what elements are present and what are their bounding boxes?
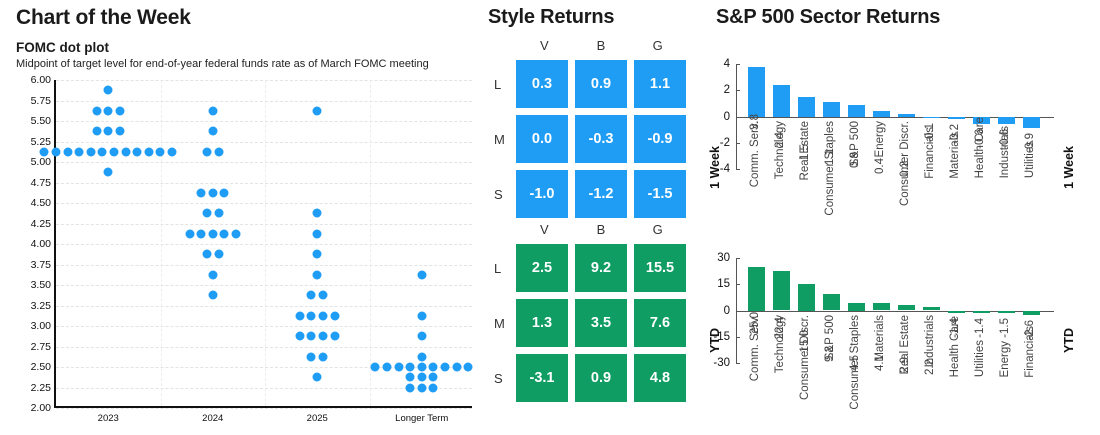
bar-category-label: Technology (775, 121, 787, 179)
dot-plot-gridline (56, 203, 472, 204)
dot-plot-y-tick: 3.75 (31, 259, 51, 271)
dot-plot-dot (313, 373, 322, 382)
bar-chart-y-tickmark (736, 90, 740, 91)
heatmap-row-header: M (490, 132, 516, 147)
heatmap-row: M0.0-0.3-0.9 (490, 115, 686, 163)
dot-plot-dot (231, 229, 240, 238)
dot-plot-y-tick: 4.25 (31, 218, 51, 230)
bar-category-label: Energy (1000, 341, 1012, 377)
bar-value-label: -1.5 (1000, 318, 1012, 338)
heatmap-row: S-1.0-1.2-1.5 (490, 170, 686, 218)
dot-plot-x-tick: 2024 (202, 413, 223, 424)
bar-category-label: Technology (775, 315, 787, 373)
fomc-dot-plot-panel: Chart of the Week FOMC dot plot Midpoint… (0, 0, 480, 435)
bar-chart-bar[interactable] (923, 117, 941, 118)
dot-plot-y-tick: 2.75 (31, 341, 51, 353)
bar-value-label: 0.4 (875, 158, 887, 174)
heatmap-row-header: M (490, 316, 516, 331)
dot-plot-dot (307, 291, 316, 300)
bar-chart-bar[interactable] (973, 311, 991, 313)
bar-chart-bar[interactable] (923, 307, 941, 311)
heatmap-cell[interactable]: 9.2 (575, 244, 627, 292)
heatmap-row: M1.33.57.6 (490, 299, 686, 347)
heatmap-column-header: B (573, 222, 630, 244)
dot-plot-dot (104, 168, 113, 177)
dot-plot-gridline (56, 265, 472, 266)
bar-chart-bar[interactable] (948, 311, 966, 313)
style-returns-heatmap-1week: VBGL0.30.91.1M0.0-0.3-0.9S-1.0-1.2-1.5 (490, 38, 686, 225)
dot-plot-column-divider (370, 80, 371, 406)
heatmap-column-header: B (573, 38, 630, 60)
dot-plot-dot (98, 147, 107, 156)
bar-chart-y-tick-label: 0 (704, 111, 730, 123)
dot-plot-dot (115, 127, 124, 136)
dot-plot-y-tick: 3.25 (31, 300, 51, 312)
heatmap-cell[interactable]: -3.1 (516, 354, 568, 402)
dot-plot-gridline (56, 326, 472, 327)
heatmap-row: L2.59.215.5 (490, 244, 686, 292)
bar-chart-bar[interactable] (873, 111, 891, 116)
dot-plot-dot (92, 127, 101, 136)
dot-plot-dot (452, 363, 461, 372)
heatmap-column-header: V (516, 222, 573, 244)
bar-chart-bar[interactable] (773, 85, 791, 117)
heatmap-cell[interactable]: 2.5 (516, 244, 568, 292)
dot-plot-dot (313, 106, 322, 115)
dot-plot-dot (52, 147, 61, 156)
bar-chart-bar[interactable] (823, 294, 841, 310)
dot-plot-y-tick: 2.25 (31, 382, 51, 394)
heatmap-column-header: G (629, 38, 686, 60)
dot-plot-dot (144, 147, 153, 156)
dot-plot-dot (220, 229, 229, 238)
dot-plot-dot (417, 332, 426, 341)
bar-chart-bar[interactable] (998, 117, 1016, 125)
dot-plot-dot (214, 147, 223, 156)
heatmap-row-header: L (490, 77, 516, 92)
bar-chart-bar[interactable] (898, 114, 916, 117)
dot-plot-dot (86, 147, 95, 156)
dot-plot-canvas: 6.005.755.505.255.004.754.504.254.003.75… (54, 80, 472, 408)
dot-plot-dot (417, 352, 426, 361)
bar-category-label: Real Estate (800, 121, 812, 180)
heatmap-cell[interactable]: -1.5 (634, 170, 686, 218)
dot-plot-dot (417, 363, 426, 372)
style-returns-panel: Style Returns VBGL0.30.91.1M0.0-0.3-0.9S… (480, 0, 702, 435)
heatmap-cell[interactable]: -0.3 (575, 115, 627, 163)
dot-plot-dot (313, 229, 322, 238)
dot-plot-column-divider (161, 80, 162, 406)
dot-plot-dot (208, 229, 217, 238)
dot-plot-dot (406, 373, 415, 382)
dot-plot-dot (208, 291, 217, 300)
dot-plot-dot (313, 250, 322, 259)
dot-plot-dot (121, 147, 130, 156)
bar-category-label: Health Care (950, 316, 962, 377)
sector-bar-chart-1week: 420-2-43.8Comm. Serv.2.4Technology1.5Rea… (702, 46, 1100, 236)
bar-category-label: S&P 500 (825, 315, 837, 360)
dot-plot-dot (313, 270, 322, 279)
bar-category-label: Health Care (975, 117, 987, 178)
bar-category-label: Comm. Serv. (750, 315, 762, 381)
dot-plot-dot (371, 363, 380, 372)
bar-chart-y-tickmark (736, 64, 740, 65)
heatmap-cell[interactable]: 3.5 (575, 299, 627, 347)
heatmap-cell[interactable]: 0.3 (516, 60, 568, 108)
dot-plot-dot (417, 373, 426, 382)
bar-chart-bar[interactable] (1023, 311, 1041, 316)
dot-plot-y-tick: 5.00 (31, 156, 51, 168)
dot-plot-dot (214, 250, 223, 259)
bar-chart-period-label: YTD (1062, 328, 1076, 353)
dot-plot-dot (202, 250, 211, 259)
heatmap-cell[interactable]: 0.0 (516, 115, 568, 163)
dot-plot-y-tick: 4.00 (31, 238, 51, 250)
bar-category-label: Utilities (975, 340, 987, 377)
heatmap-column-header: G (629, 222, 686, 244)
dot-plot-dot (92, 106, 101, 115)
dot-plot-dot (307, 311, 316, 320)
dot-plot-dot (208, 188, 217, 197)
sector-returns-panel: S&P 500 Sector Returns 420-2-43.8Comm. S… (702, 0, 1100, 435)
dot-plot-dot (197, 188, 206, 197)
dot-plot-y-tick: 4.50 (31, 197, 51, 209)
heatmap-row-header: S (490, 371, 516, 386)
heatmap-cell[interactable]: 1.3 (516, 299, 568, 347)
bar-chart-bar[interactable] (798, 97, 816, 117)
dot-plot-gridline (56, 101, 472, 102)
dot-plot-dot (197, 229, 206, 238)
bar-value-label: -1.4 (975, 318, 987, 338)
dot-plot-dot (208, 270, 217, 279)
bar-category-label: Materials (875, 315, 887, 362)
bar-chart-y-tickmark (736, 363, 740, 364)
dot-plot-gridline (56, 285, 472, 286)
bar-category-label: Industrials (1000, 126, 1012, 178)
dot-plot-dot (429, 363, 438, 372)
bar-category-label: Consumer Staples (850, 315, 862, 410)
heatmap-cell[interactable]: -1.0 (516, 170, 568, 218)
dot-plot-dot (133, 147, 142, 156)
heatmap-column-header: V (516, 38, 573, 60)
dot-plot-dot (307, 332, 316, 341)
dot-plot-dot (394, 363, 403, 372)
bar-chart-bar[interactable] (998, 311, 1016, 314)
bar-chart-y-tickmark (736, 284, 740, 285)
dot-plot-y-tick: 3.50 (31, 279, 51, 291)
dot-plot-y-tick: 4.75 (31, 177, 51, 189)
dot-plot-dot (406, 383, 415, 392)
bar-category-label: Materials (950, 132, 962, 179)
dot-plot-dot (202, 147, 211, 156)
dot-plot-subtitle: Midpoint of target level for end-of-year… (16, 58, 429, 70)
dot-plot-gridline (56, 244, 472, 245)
heatmap-cell[interactable]: 7.6 (634, 299, 686, 347)
dot-plot-gridline (56, 121, 472, 122)
bar-chart-bar[interactable] (748, 267, 766, 311)
bar-chart-bar[interactable] (1023, 117, 1041, 129)
style-returns-heading: Style Returns (488, 6, 614, 29)
bar-chart-bar[interactable] (748, 67, 766, 117)
chart-of-the-week-heading: Chart of the Week (16, 6, 191, 30)
sector-bar-chart-ytd: 30150-15-3025.0Comm. Serv.22.4Technology… (702, 240, 1100, 435)
dot-plot-dot (417, 311, 426, 320)
style-returns-heatmap-ytd: VBGL2.59.215.5M1.33.57.6S-3.10.94.8 (490, 222, 686, 409)
dot-plot-dot (220, 188, 229, 197)
bar-chart-period-label-left: 1 Week (708, 146, 722, 189)
dot-plot-dot (382, 363, 391, 372)
bar-category-label: Consumer Discr. (900, 121, 912, 206)
bar-chart-bar[interactable] (798, 284, 816, 310)
dot-plot-gridline (56, 224, 472, 225)
bar-chart-bar[interactable] (848, 303, 866, 311)
dot-plot-dot (208, 106, 217, 115)
bar-chart-bar[interactable] (773, 271, 791, 310)
bar-category-label: Financials (1025, 326, 1037, 378)
heatmap-cell[interactable]: -1.2 (575, 170, 627, 218)
bar-chart-bar[interactable] (823, 102, 841, 116)
bar-chart-y-tick-label: 0 (704, 305, 730, 317)
dot-plot-dot (75, 147, 84, 156)
bar-category-label: S&P 500 (850, 121, 862, 166)
bar-chart-y-tickmark (736, 169, 740, 170)
dot-plot-dot (295, 311, 304, 320)
dot-plot-gridline (56, 80, 472, 81)
heatmap-column-header-row: VBG (490, 38, 686, 60)
dot-plot-dot (295, 332, 304, 341)
heatmap-row: S-3.10.94.8 (490, 354, 686, 402)
dot-plot-dot (319, 291, 328, 300)
dot-plot-dot (464, 363, 473, 372)
bar-category-label: Consumer Discr. (800, 315, 812, 400)
dot-plot-dot (330, 311, 339, 320)
dot-plot-dot (110, 147, 119, 156)
bar-chart-y-tickmark (736, 337, 740, 338)
bar-category-label: Industrials (925, 315, 937, 367)
dashboard-root: Chart of the Week FOMC dot plot Midpoint… (0, 0, 1100, 435)
dot-plot-y-tick: 2.00 (31, 402, 51, 414)
heatmap-cell[interactable]: 15.5 (634, 244, 686, 292)
dot-plot-dot (440, 363, 449, 372)
dot-plot-dot (168, 147, 177, 156)
dot-plot-dot (185, 229, 194, 238)
dot-plot-title: FOMC dot plot (16, 40, 109, 55)
dot-plot-gridline (56, 183, 472, 184)
dot-plot-dot (417, 270, 426, 279)
dot-plot-y-tick: 5.25 (31, 136, 51, 148)
bar-chart-bar[interactable] (873, 303, 891, 310)
dot-plot-dot (104, 106, 113, 115)
dot-plot-x-tick: Longer Term (395, 413, 448, 424)
dot-plot-dot (214, 209, 223, 218)
dot-plot-dot (319, 311, 328, 320)
dot-plot-gridline (56, 306, 472, 307)
dot-plot-dot (104, 86, 113, 95)
dot-plot-y-tick: 6.00 (31, 74, 51, 86)
dot-plot-x-tick: 2025 (307, 413, 328, 424)
dot-plot-y-tick: 5.75 (31, 95, 51, 107)
dot-plot-dot (406, 363, 415, 372)
dot-plot-dot (156, 147, 165, 156)
sector-returns-heading: S&P 500 Sector Returns (716, 6, 940, 29)
bar-chart-y-tick-label: 2 (704, 84, 730, 96)
bar-chart-y-tickmark (736, 258, 740, 259)
bar-category-label: Real Estate (900, 315, 912, 374)
heatmap-row-header: S (490, 187, 516, 202)
dot-plot-gridline (56, 408, 472, 409)
bar-category-label: Consumer Staples (825, 121, 837, 216)
dot-plot-gridline (56, 347, 472, 348)
dot-plot-y-tick: 2.50 (31, 361, 51, 373)
bar-category-label: Utilities (1025, 141, 1037, 178)
bar-category-label: Financials (925, 127, 937, 179)
dot-plot-dot (208, 127, 217, 136)
dot-plot-dot (319, 352, 328, 361)
bar-chart-y-tick-label: -30 (704, 357, 730, 369)
dot-plot-dot (429, 383, 438, 392)
dot-plot-dot (63, 147, 72, 156)
heatmap-row-header: L (490, 261, 516, 276)
dot-plot-gridline (56, 142, 472, 143)
heatmap-cell[interactable]: 1.1 (634, 60, 686, 108)
bar-category-label: Energy (875, 121, 887, 157)
heatmap-cell[interactable]: 0.9 (575, 60, 627, 108)
dot-plot-x-tick: 2023 (98, 413, 119, 424)
heatmap-row: L0.30.91.1 (490, 60, 686, 108)
dot-plot-dot (202, 209, 211, 218)
bar-chart-bar[interactable] (898, 305, 916, 310)
bar-chart-bar[interactable] (948, 117, 966, 120)
dot-plot-dot (104, 127, 113, 136)
dot-plot-dot (40, 147, 49, 156)
bar-chart-y-tickmark (736, 143, 740, 144)
dot-plot-y-tick: 5.50 (31, 115, 51, 127)
bar-chart-y-tick-label: 15 (704, 278, 730, 290)
bar-chart-period-label: 1 Week (1062, 146, 1076, 189)
dot-plot-dot (429, 373, 438, 382)
heatmap-cell[interactable]: 0.9 (575, 354, 627, 402)
dot-plot-gridline (56, 162, 472, 163)
bar-chart-period-label-left: YTD (708, 328, 722, 353)
dot-plot-dot (115, 106, 124, 115)
bar-chart-y-tick-label: 30 (704, 252, 730, 264)
dot-plot-dot (307, 352, 316, 361)
heatmap-column-header-row: VBG (490, 222, 686, 244)
dot-plot-dot (313, 209, 322, 218)
bar-chart-bar[interactable] (848, 105, 866, 117)
dot-plot-y-tick: 3.00 (31, 320, 51, 332)
heatmap-cell[interactable]: 4.8 (634, 354, 686, 402)
bar-category-label: Comm. Serv. (750, 121, 762, 187)
dot-plot-dot (417, 383, 426, 392)
dot-plot-dot (330, 332, 339, 341)
dot-plot-dot (319, 332, 328, 341)
dot-plot-column-divider (265, 80, 266, 406)
heatmap-cell[interactable]: -0.9 (634, 115, 686, 163)
bar-chart-y-tick-label: 4 (704, 58, 730, 70)
